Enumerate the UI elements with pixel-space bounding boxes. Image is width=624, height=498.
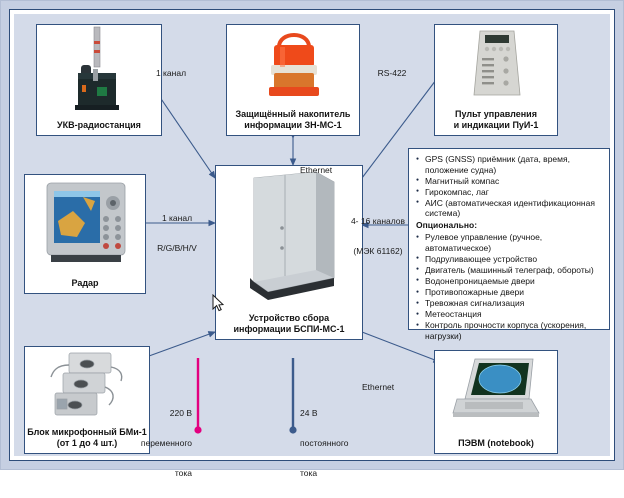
- sensor-list-optional: Рулевое управление (ручное, автоматическ…: [416, 232, 603, 341]
- label-ac-power-line1: 220 В: [118, 408, 192, 418]
- list-item: Тревожная сигнализация: [416, 298, 603, 309]
- label-rs422-link-line1: RS-422: [362, 68, 422, 78]
- protected-storage-caption-2: информации ЗН-МС-1: [227, 120, 359, 131]
- label-rs422-link: RS-422: [362, 48, 422, 98]
- list-item: Контроль прочности корпуса (ускорения, н…: [416, 320, 603, 341]
- label-vhf-link-line1: 1 канал: [141, 68, 201, 78]
- central-unit-caption-1: Устройство сбора: [216, 313, 362, 324]
- label-radar-link: 1 канал R/G/B/H/V: [141, 193, 213, 273]
- label-sensors-link-line1: 4- 16 каналов: [344, 216, 412, 226]
- label-sensors-link-line2: (МЭК 61162): [344, 246, 412, 256]
- radar-caption: Радар: [25, 278, 145, 289]
- node-radar[interactable]: Радар: [24, 174, 146, 294]
- node-notebook-pc[interactable]: ПЭВМ (notebook): [434, 350, 558, 454]
- sensor-list-primary: GPS (GNSS) приёмник (дата, время, положе…: [416, 154, 603, 219]
- list-item: Рулевое управление (ручное, автоматическ…: [416, 232, 603, 253]
- label-sensors-link: 4- 16 каналов (МЭК 61162): [344, 196, 412, 276]
- list-item: Магнитный компас: [416, 176, 603, 187]
- diagram-canvas: УКВ-радиостанция Защищённый накопитель и…: [9, 9, 615, 461]
- list-item: Метеостанция: [416, 309, 603, 320]
- central-unit-caption-2: информации БСПИ-МС-1: [216, 324, 362, 335]
- optional-header: Опционально:: [416, 220, 603, 231]
- vhf-radio-caption: УКВ-радиостанция: [37, 120, 161, 131]
- control-panel-image: [435, 25, 557, 109]
- protected-storage-image: [227, 25, 359, 109]
- label-radar-link-line2: R/G/B/H/V: [141, 243, 213, 253]
- label-dc-power: 24 В постоянного тока: [300, 388, 380, 498]
- label-vhf-link: 1 канал: [141, 48, 201, 98]
- list-item: Водонепроницаемые двери: [416, 276, 603, 287]
- radar-image: [25, 175, 145, 278]
- label-radar-link-line1: 1 канал: [141, 213, 213, 223]
- label-ac-power-line2: переменного: [118, 438, 192, 448]
- sensor-list-panel: GPS (GNSS) приёмник (дата, время, положе…: [408, 148, 610, 330]
- notebook-pc-caption: ПЭВМ (notebook): [435, 438, 557, 449]
- node-control-panel[interactable]: Пульт управления и индикации ПуИ-1: [434, 24, 558, 136]
- list-item: Подруливающее устройство: [416, 254, 603, 265]
- list-item: Двигатель (машинный телеграф, обороты): [416, 265, 603, 276]
- list-item: GPS (GNSS) приёмник (дата, время, положе…: [416, 154, 603, 175]
- label-dc-power-line1: 24 В: [300, 408, 380, 418]
- label-ethernet-top-line1: Ethernet: [300, 165, 360, 175]
- list-item: АИС (автоматическая идентификационная си…: [416, 198, 603, 219]
- label-dc-power-line2: постоянного: [300, 438, 380, 448]
- list-item: Противопожарные двери: [416, 287, 603, 298]
- label-ac-power: 220 В переменного тока: [118, 388, 192, 498]
- diagram-root: УКВ-радиостанция Защищённый накопитель и…: [0, 0, 624, 470]
- notebook-pc-image: [435, 351, 557, 438]
- control-panel-caption-1: Пульт управления: [435, 109, 557, 120]
- control-panel-caption-2: и индикации ПуИ-1: [435, 120, 557, 131]
- node-protected-storage[interactable]: Защищённый накопитель информации ЗН-МС-1: [226, 24, 360, 136]
- protected-storage-caption-1: Защищённый накопитель: [227, 109, 359, 120]
- label-ethernet-top: Ethernet: [300, 145, 360, 195]
- list-item: Гирокомпас, лаг: [416, 187, 603, 198]
